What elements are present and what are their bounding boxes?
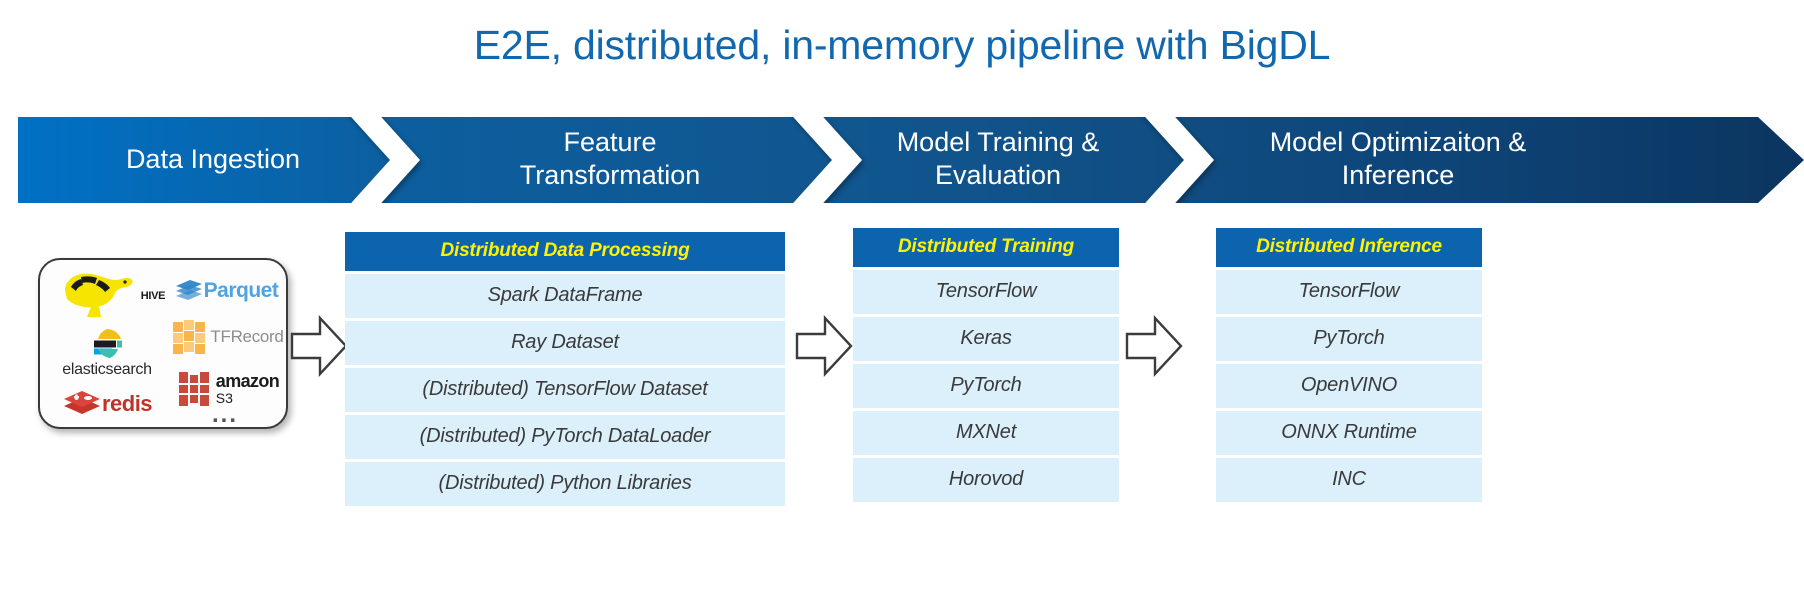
stack-table-distributed-training: Distributed Training TensorFlow Keras Py… [853,228,1119,502]
stack-row[interactable]: TensorFlow [853,270,1119,314]
stack-row[interactable]: Horovod [853,458,1119,502]
more-sources-ellipsis: ... [190,402,260,428]
stack-row[interactable]: ONNX Runtime [1216,411,1482,455]
hive-logo: HIVE [50,266,166,326]
stage-label-data-ingestion: Data Ingestion [48,143,378,176]
hive-icon [51,267,141,325]
stack-row[interactable]: (Distributed) TensorFlow Dataset [345,368,785,412]
stack-table-data-processing: Distributed Data Processing Spark DataFr… [345,232,785,506]
connector-arrow-processing-to-training [795,312,853,385]
stack-row[interactable]: INC [1216,458,1482,502]
stack-row[interactable]: OpenVINO [1216,364,1482,408]
elasticsearch-logo: elasticsearch [48,322,166,384]
stage-label-model-training-evaluation: Model Training & Evaluation [818,126,1178,192]
stack-row[interactable]: MXNet [853,411,1119,455]
pipeline-stage-banner: Data Ingestion Feature Transformation Mo… [18,117,1804,203]
right-arrow-icon [290,312,348,380]
stack-row[interactable]: (Distributed) Python Libraries [345,462,785,506]
page-title: E2E, distributed, in-memory pipeline wit… [0,22,1804,69]
stack-header: Distributed Training [853,228,1119,267]
parquet-icon [174,276,204,306]
stack-header: Distributed Data Processing [345,232,785,271]
elasticsearch-logo-label: elasticsearch [62,361,151,379]
tfrecord-icon [170,316,210,358]
stack-row[interactable]: PyTorch [853,364,1119,408]
hive-logo-label: HIVE [141,290,165,302]
stage-label-feature-transformation: Feature Transformation [430,126,790,192]
stage-label-model-optimization-inference: Model Optimizaiton & Inference [1198,126,1598,192]
elasticsearch-icon [90,327,124,361]
stack-row[interactable]: Spark DataFrame [345,274,785,318]
redis-logo: redis [48,382,166,426]
data-source-box: HIVE Parquet elasticsearch [38,258,288,429]
connector-arrow-training-to-inference [1125,312,1183,385]
tfrecord-logo: TFRecord [166,310,288,364]
right-arrow-icon [795,312,853,380]
stack-row[interactable]: (Distributed) PyTorch DataLoader [345,415,785,459]
stack-row[interactable]: Ray Dataset [345,321,785,365]
right-arrow-icon [1125,312,1183,380]
tfrecord-logo-label: TFRecord [210,327,283,347]
redis-logo-label: redis [102,391,152,417]
parquet-logo: Parquet [166,268,286,314]
connector-arrow-ingestion-to-processing [290,312,348,385]
redis-icon [62,388,102,420]
stack-row[interactable]: PyTorch [1216,317,1482,361]
stack-table-distributed-inference: Distributed Inference TensorFlow PyTorch… [1216,228,1482,502]
stack-header: Distributed Inference [1216,228,1482,267]
amazon-s3-logo-label: amazon [216,373,279,390]
parquet-logo-label: Parquet [204,279,279,303]
stack-row[interactable]: Keras [853,317,1119,361]
more-sources-label: ... [212,401,238,429]
stack-row[interactable]: TensorFlow [1216,270,1482,314]
